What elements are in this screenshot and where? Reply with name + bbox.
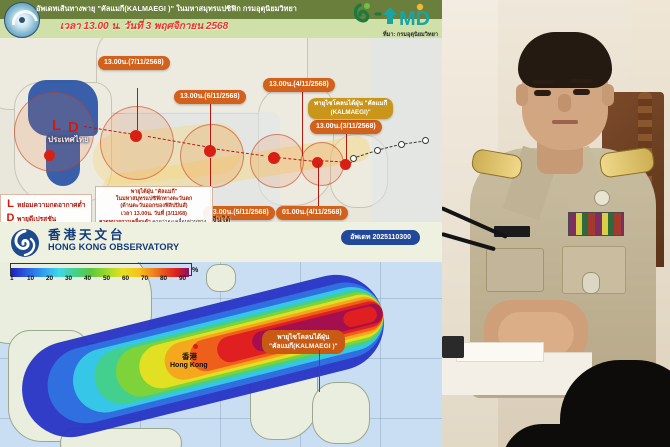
leader-3nov [346,130,347,160]
label-hong-kong-cn: 香港 [182,351,197,362]
leader-6nov [210,102,211,146]
eye-right [573,89,590,95]
desc-head-4: เวลา 13.00น. วันที่ (3/11/68) [99,211,209,218]
hko-storm-callout: พายุไซโคลนไต้ฝุ่น "คัลแมกี(KALMAEGI )" [262,330,345,354]
document-on-table [456,342,544,362]
forecast-callout-4nov-01: 01.00น.(4/11/2568) [276,206,348,220]
colorbar-tick-60: 60 [122,275,129,282]
hko-storm-line-1: พายุไซโคลนไต้ฝุ่น [269,333,338,342]
uniform-pocket-left [486,248,544,292]
hko-spiral-icon [9,228,41,258]
leader-7nov [137,88,138,130]
weather-graphics-column: อัพเดทเส้นทางพายุ "คัลแมกี(KALMAEGI )" ใ… [0,0,442,447]
storm-name-line-1: พายุไซโคลนไต้ฝุ่น "คัลแมกี [314,100,387,109]
forecast-callout-7nov: 13.00น.(7/11/2568) [98,56,170,70]
tmd-banner: อัพเดทเส้นทางพายุ "คัลแมกี(KALMAEGI )" ใ… [0,0,442,38]
colorbar-unit: % [192,267,198,274]
hko-title-en: HONG KONG OBSERVATORY [48,242,179,253]
leader-4nov-01 [318,164,319,206]
dark-device-on-table [442,336,464,358]
legend-label-depression: พายุดีเปรสชัน [17,213,56,223]
colorbar-tick-10: 10 [27,275,34,282]
storm-name-callout: พายุไซโคลนไต้ฝุ่น "คัลแมกี (KALMAEGI)" [308,98,393,119]
colorbar-tick-50: 50 [103,275,110,282]
hko-title-cn: 香港天文台 [48,228,126,242]
chest-badge [594,190,610,206]
chest-medallion [582,272,600,294]
desc-head-3: (ด้านตะวันออกของฟิลิปปินส์) [99,203,209,210]
cyclone-symbol-7nov [44,150,55,161]
colorbar-tick-20: 20 [46,275,53,282]
eye-left [534,90,551,96]
colorbar-tick-90: 90 [179,275,186,282]
eyebrow-left [532,80,554,84]
hko-callout-leader-line [319,350,320,392]
marker-depression-D: D [68,120,79,135]
past-track-point-3 [398,141,405,148]
label-hong-kong-en: Hong Kong [170,362,208,369]
hong-kong-marker-dot [193,344,198,349]
legend-row-depression: D พายุดีเปรสชัน [4,211,88,222]
cyclone-symbol-4nov-13 [268,152,280,164]
colorbar-tick-70: 70 [141,275,148,282]
ear-right [602,84,614,106]
medal-ribbon-bar [568,212,624,236]
forecast-callout-3nov: 13.00น.(3/11/2568) [310,120,382,134]
past-track-point-4 [422,137,429,144]
hko-probability-map-panel: 香港 Hong Kong 香港天文台 HONG KONG OBSERVATORY [0,222,442,447]
sea-pacific [372,38,442,222]
colorbar-tick-1: 1 [10,275,14,282]
forecast-callout-4nov-13: 13.00น.(4/11/2568) [263,78,335,92]
cyclone-symbol-5nov [204,145,216,157]
legend-label-low: หย่อมความกดอากาศต่ำ [17,199,85,210]
eyebrow-right [570,79,592,83]
hko-storm-line-2: "คัลแมกี(KALMAEGI )" [269,342,338,351]
update-timestamp-badge: อัพเดท 2025110300 [341,230,420,245]
official-press-photo [442,0,670,447]
colorbar-tick-40: 40 [84,275,91,282]
tmd-track-map: ประเทศไทย L D [0,38,442,222]
colorbar-tick-80: 80 [160,275,167,282]
tmd-description-box: พายุไต้ฝุ่น "คัลแมกี" ในมหาสมุทรแปซิฟิกท… [95,186,213,222]
cyclone-symbol-3nov [340,159,351,170]
legend-key-D: D [4,212,17,222]
legend-key-L: L [4,198,17,210]
colorbar-tick-labels: 1 10 20 30 40 50 60 70 80 90 [4,275,204,285]
legend-row-low: L หย่อมความกดอากาศต่ำ [4,197,88,211]
marker-low-pressure-L: L [52,118,61,133]
cyclone-swirl-icon [4,2,40,38]
tmd-logo: MD [350,1,438,31]
tmd-legend: L หย่อมความกดอากาศต่ำ D พายุดีเปรสชัน พา… [0,194,92,222]
forecast-callout-6nov: 13.00น.(6/11/2568) [174,90,246,104]
ear-left [516,84,528,106]
past-track-point-2 [374,147,381,154]
banner-subtitle: เวลา 13.00 น. วันที่ 3 พฤศจิกายน 2568 [60,19,310,34]
nose [558,94,571,112]
svg-text:MD: MD [399,8,430,30]
storm-name-line-2: (KALMAEGI)" [314,109,387,118]
mouth [552,120,578,124]
colorbar-tick-30: 30 [65,275,72,282]
banner-title: อัพเดทเส้นทางพายุ "คัลแมกี(KALMAEGI )" ใ… [36,2,336,16]
foreground-person-shoulder [502,424,670,447]
cyclone-symbol-6nov [130,130,142,142]
leader-4nov-13 [302,90,303,156]
screenshot-root: อัพเดทเส้นทางพายุ "คัลแมกี(KALMAEGI )" ใ… [0,0,670,447]
